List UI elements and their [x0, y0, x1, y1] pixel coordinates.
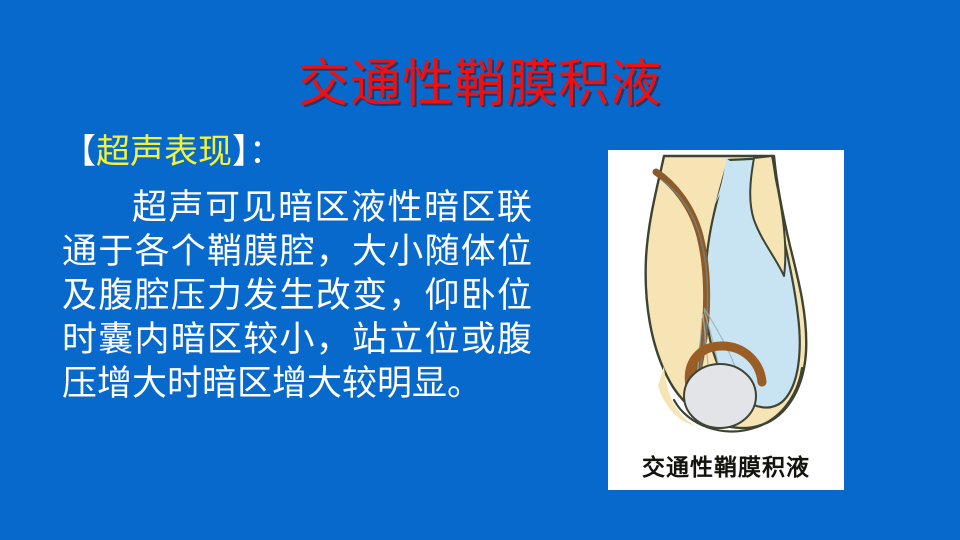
- heading-colon: ：: [249, 134, 283, 171]
- illustration-panel: 交通性鞘膜积液: [608, 150, 844, 490]
- testis: [684, 364, 756, 428]
- heading-close-bracket: 】: [232, 134, 249, 171]
- section-heading: 【超声表现】：: [62, 132, 532, 174]
- text-content-column: 【超声表现】： 超声可见暗区液性暗区联通于各个鞘膜腔，大小随体位及腹腔压力发生改…: [62, 132, 532, 406]
- body-paragraph: 超声可见暗区液性暗区联通于各个鞘膜腔，大小随体位及腹腔压力发生改变，仰卧位时囊内…: [62, 186, 532, 406]
- heading-label: 超声表现: [96, 134, 232, 171]
- heading-open-bracket: 【: [62, 134, 96, 171]
- hydrocele-diagram: [608, 150, 844, 446]
- figure-caption: 交通性鞘膜积液: [608, 454, 844, 482]
- presentation-slide: 交通性鞘膜积液 【超声表现】： 超声可见暗区液性暗区联通于各个鞘膜腔，大小随体位…: [0, 0, 960, 540]
- page-title: 交通性鞘膜积液: [0, 55, 960, 115]
